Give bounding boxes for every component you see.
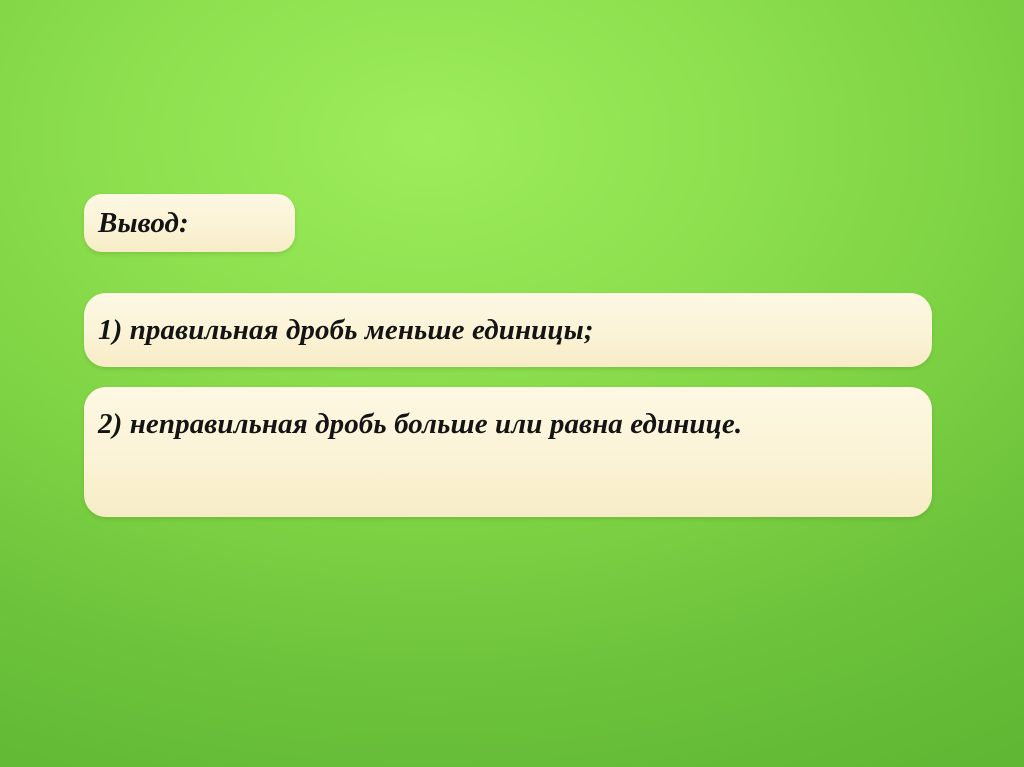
conclusion-card: Вывод:: [84, 194, 295, 252]
conclusion-item-card-1: 1) правильная дробь меньше единицы;: [84, 293, 932, 367]
conclusion-label: Вывод:: [98, 207, 189, 240]
conclusion-item-text-2: 2) неправильная дробь больше или равна е…: [98, 403, 742, 445]
slide-canvas: Вывод: 1) правильная дробь меньше единиц…: [0, 0, 1024, 767]
conclusion-item-card-2: 2) неправильная дробь больше или равна е…: [84, 387, 932, 517]
conclusion-item-text-1: 1) правильная дробь меньше единицы;: [98, 313, 594, 348]
